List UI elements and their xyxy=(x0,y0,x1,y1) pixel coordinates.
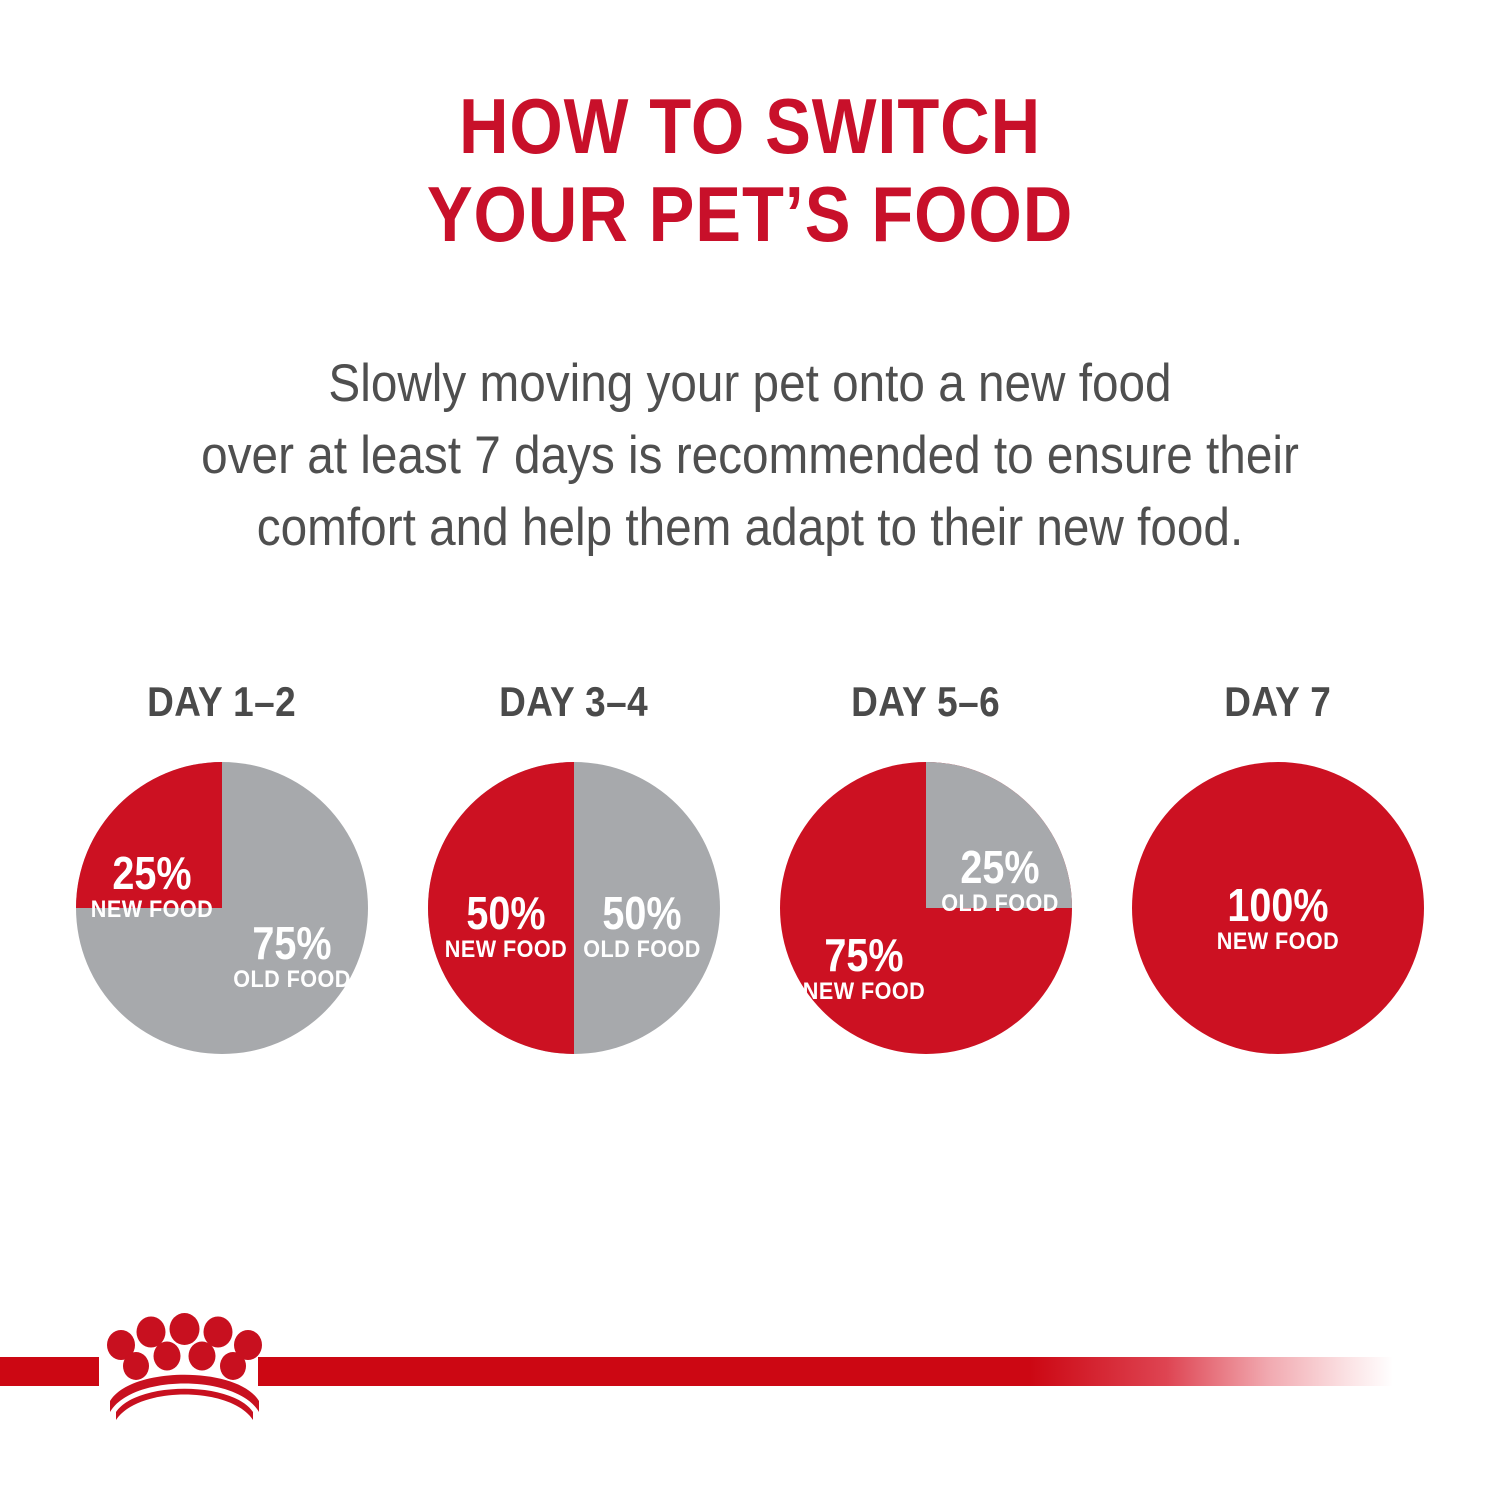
intro-line-1: Slowly moving your pet onto a new food xyxy=(75,348,1425,420)
footer-rule-left xyxy=(0,1357,99,1386)
day-label-1: DAY 1–2 xyxy=(148,680,297,724)
intro-paragraph: Slowly moving your pet onto a new food o… xyxy=(0,348,1500,564)
intro-line-2: over at least 7 days is recommended to e… xyxy=(75,420,1425,492)
page-title: HOW TO SWITCH YOUR PET’S FOOD xyxy=(0,82,1500,258)
pie-group-day-7: DAY 7 100% NEW FOOD xyxy=(1102,680,1454,1054)
footer xyxy=(0,1300,1500,1440)
pie-group-day-5-6: DAY 5–6 25% OLD FOOD 75% NEW FOOD xyxy=(750,680,1102,1054)
royal-canin-crown-icon xyxy=(92,1300,277,1420)
pie-svg-3 xyxy=(780,762,1072,1054)
footer-rule-right xyxy=(258,1357,1393,1386)
day-label-4: DAY 7 xyxy=(1224,680,1331,724)
pie-group-day-3-4: DAY 3–4 50% NEW FOOD 50% OLD FOOD xyxy=(398,680,750,1054)
pie-slice-new-food-1 xyxy=(76,762,222,908)
intro-line-3: comfort and help them adapt to their new… xyxy=(75,492,1425,564)
pie-svg-1 xyxy=(76,762,368,1054)
day-label-2: DAY 3–4 xyxy=(500,680,649,724)
pie-slice-new-food-4 xyxy=(1132,762,1424,1054)
pie-chart-row: DAY 1–2 25% NEW FOOD 75% OLD FOOD DAY 3–… xyxy=(0,680,1500,1100)
page-title-line-1: HOW TO SWITCH xyxy=(90,82,1410,170)
pie-svg-4 xyxy=(1132,762,1424,1054)
pie-chart-day-3-4: 50% NEW FOOD 50% OLD FOOD xyxy=(428,762,720,1054)
pie-group-day-1-2: DAY 1–2 25% NEW FOOD 75% OLD FOOD xyxy=(46,680,398,1054)
crown-svg xyxy=(92,1300,277,1420)
pie-slice-old-food-3 xyxy=(926,762,1072,908)
pie-slice-new-food-2 xyxy=(428,762,574,1054)
day-label-3: DAY 5–6 xyxy=(852,680,1001,724)
pie-chart-day-5-6: 25% OLD FOOD 75% NEW FOOD xyxy=(780,762,1072,1054)
page-title-line-2: YOUR PET’S FOOD xyxy=(90,170,1410,258)
pie-chart-day-7: 100% NEW FOOD xyxy=(1132,762,1424,1054)
pie-chart-day-1-2: 25% NEW FOOD 75% OLD FOOD xyxy=(76,762,368,1054)
pie-svg-2 xyxy=(428,762,720,1054)
